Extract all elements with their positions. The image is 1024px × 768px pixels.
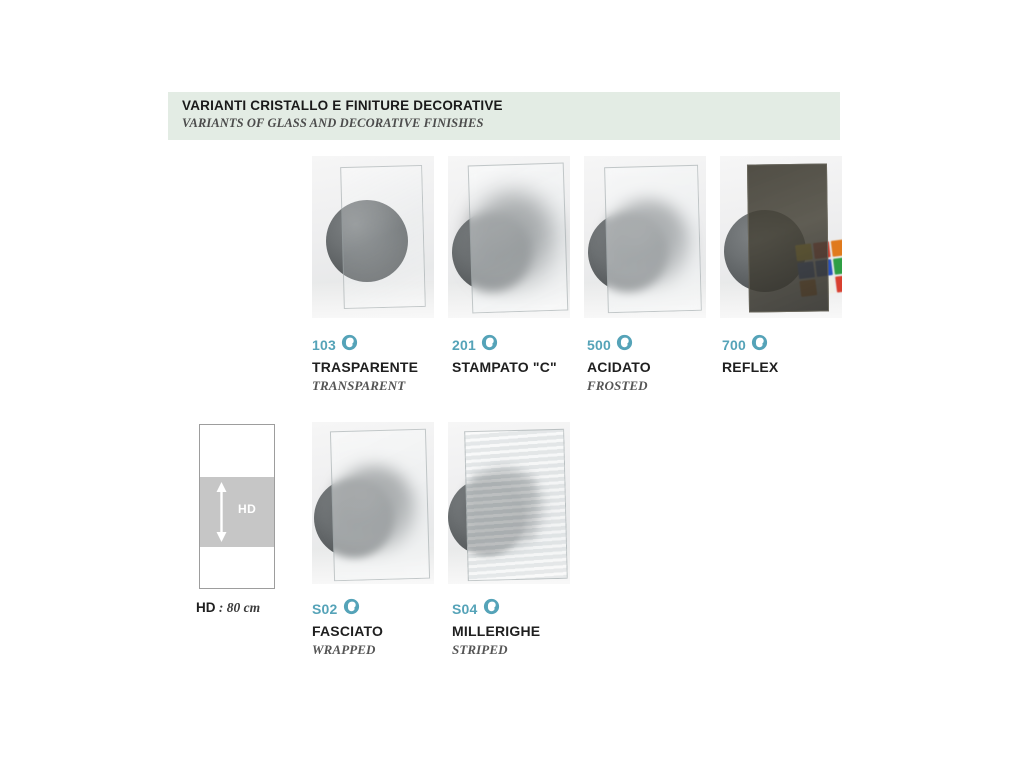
glass-pane-transparent [340, 165, 426, 309]
finish-caption-fasciato: S02 FASCIATO WRAPPED [312, 600, 383, 658]
glass-pane-fasciato [330, 429, 430, 582]
finish-card-trasparente[interactable] [312, 156, 434, 318]
hd-caption: HD : 80 cm [196, 600, 260, 616]
finish-photo-reflex [720, 156, 842, 318]
hd-band-label: HD [238, 502, 256, 516]
finish-caption-stampato-c: 201 STAMPATO "C" [452, 336, 557, 378]
finish-code: 700 [722, 337, 746, 353]
glass-finishes-page: VARIANTI CRISTALLO E FINITURE DECORATIVE… [0, 0, 1024, 768]
code-row: S04 [452, 600, 540, 618]
finish-name-it: REFLEX [722, 359, 778, 375]
finish-photo-acidato [584, 156, 706, 318]
finish-caption-millerighe: S04 MILLERIGHE STRIPED [452, 600, 540, 658]
finish-photo-fasciato [312, 422, 434, 584]
cube-cell [833, 257, 842, 275]
section-header-band: VARIANTI CRISTALLO E FINITURE DECORATIVE… [168, 92, 840, 140]
hd-caption-key: HD [196, 600, 216, 615]
hd-caption-value: 80 cm [227, 600, 260, 615]
code-row: 201 [452, 336, 557, 354]
finish-caption-acidato: 500 ACIDATO FROSTED [587, 336, 651, 394]
finish-name-it: TRASPARENTE [312, 359, 418, 375]
glass-swatch-icon [341, 334, 358, 356]
finish-name-en: STRIPED [452, 642, 540, 658]
cube-cell [835, 275, 842, 293]
finish-name-it: FASCIATO [312, 623, 383, 639]
glass-pane-reflex [747, 163, 829, 312]
finish-name-en: FROSTED [587, 378, 651, 394]
glass-swatch-icon [751, 334, 768, 356]
finish-card-stampato-c[interactable] [448, 156, 570, 318]
finish-name-it: MILLERIGHE [452, 623, 540, 639]
finish-code: S02 [312, 601, 338, 617]
glass-pane-acidato [604, 165, 702, 313]
finish-name-it: ACIDATO [587, 359, 651, 375]
page-title: VARIANTI CRISTALLO E FINITURE DECORATIVE [182, 98, 503, 113]
finish-code: 500 [587, 337, 611, 353]
code-row: 103 [312, 336, 418, 354]
glass-pane-stampato-c [468, 163, 569, 314]
finish-code: 103 [312, 337, 336, 353]
glass-pane-millerighe [464, 429, 568, 581]
code-row: 500 [587, 336, 651, 354]
finish-caption-trasparente: 103 TRASPARENTE TRANSPARENT [312, 336, 418, 394]
glass-swatch-icon [483, 598, 500, 620]
glass-swatch-icon [343, 598, 360, 620]
finish-photo-trasparente [312, 156, 434, 318]
finish-name-it: STAMPATO "C" [452, 359, 557, 375]
finish-card-reflex[interactable] [720, 156, 842, 318]
finish-photo-millerighe [448, 422, 570, 584]
hd-dimension-diagram: HD [199, 424, 275, 589]
code-row: S02 [312, 600, 383, 618]
hd-caption-separator: : [216, 600, 227, 615]
glass-swatch-icon [616, 334, 633, 356]
hd-band: HD [200, 477, 274, 547]
finish-code: S04 [452, 601, 478, 617]
finish-code: 201 [452, 337, 476, 353]
code-row: 700 [722, 336, 778, 354]
finish-card-fasciato[interactable] [312, 422, 434, 584]
finish-card-acidato[interactable] [584, 156, 706, 318]
cube-cell [831, 239, 842, 257]
finish-caption-reflex: 700 REFLEX [722, 336, 778, 378]
finish-card-millerighe[interactable] [448, 422, 570, 584]
page-subtitle: VARIANTS OF GLASS AND DECORATIVE FINISHE… [182, 116, 484, 131]
hd-double-arrow-icon [216, 482, 227, 542]
glass-swatch-icon [481, 334, 498, 356]
finish-name-en: WRAPPED [312, 642, 383, 658]
finish-photo-stampato-c [448, 156, 570, 318]
finish-name-en: TRANSPARENT [312, 378, 418, 394]
